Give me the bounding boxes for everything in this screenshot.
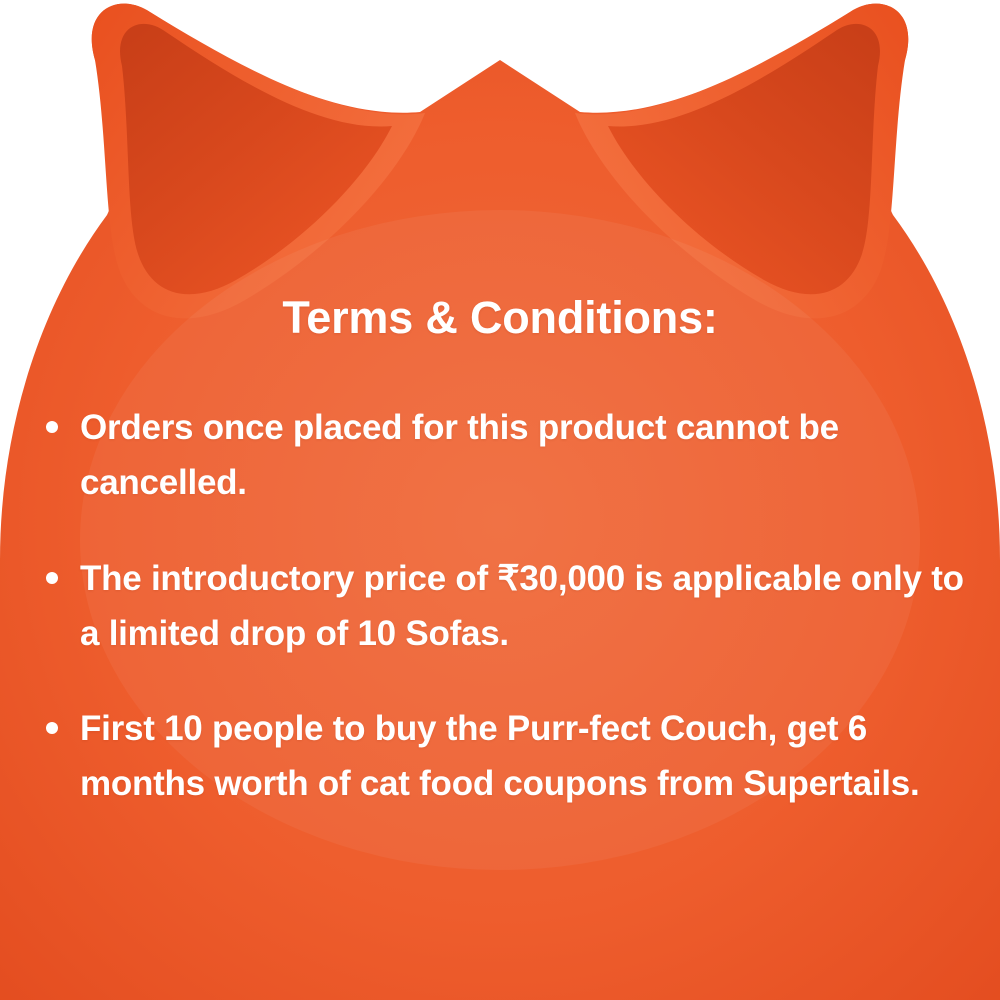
list-item: Orders once placed for this product cann…	[38, 400, 988, 511]
term-text: First 10 people to buy the Purr-fect Cou…	[80, 701, 988, 812]
bullet-dot-icon	[46, 722, 58, 734]
term-text: The introductory price of ₹30,000 is app…	[80, 551, 988, 662]
bullet-dot-icon	[46, 572, 58, 584]
page-title: Terms & Conditions:	[0, 293, 1000, 343]
poster-content: Terms & Conditions: Orders once placed f…	[0, 0, 1000, 1000]
term-text: Orders once placed for this product cann…	[80, 400, 988, 511]
terms-and-conditions-poster: Terms & Conditions: Orders once placed f…	[0, 0, 1000, 1000]
list-item: The introductory price of ₹30,000 is app…	[38, 551, 988, 662]
terms-list: Orders once placed for this product cann…	[38, 400, 988, 812]
list-item: First 10 people to buy the Purr-fect Cou…	[38, 701, 988, 812]
bullet-dot-icon	[46, 421, 58, 433]
